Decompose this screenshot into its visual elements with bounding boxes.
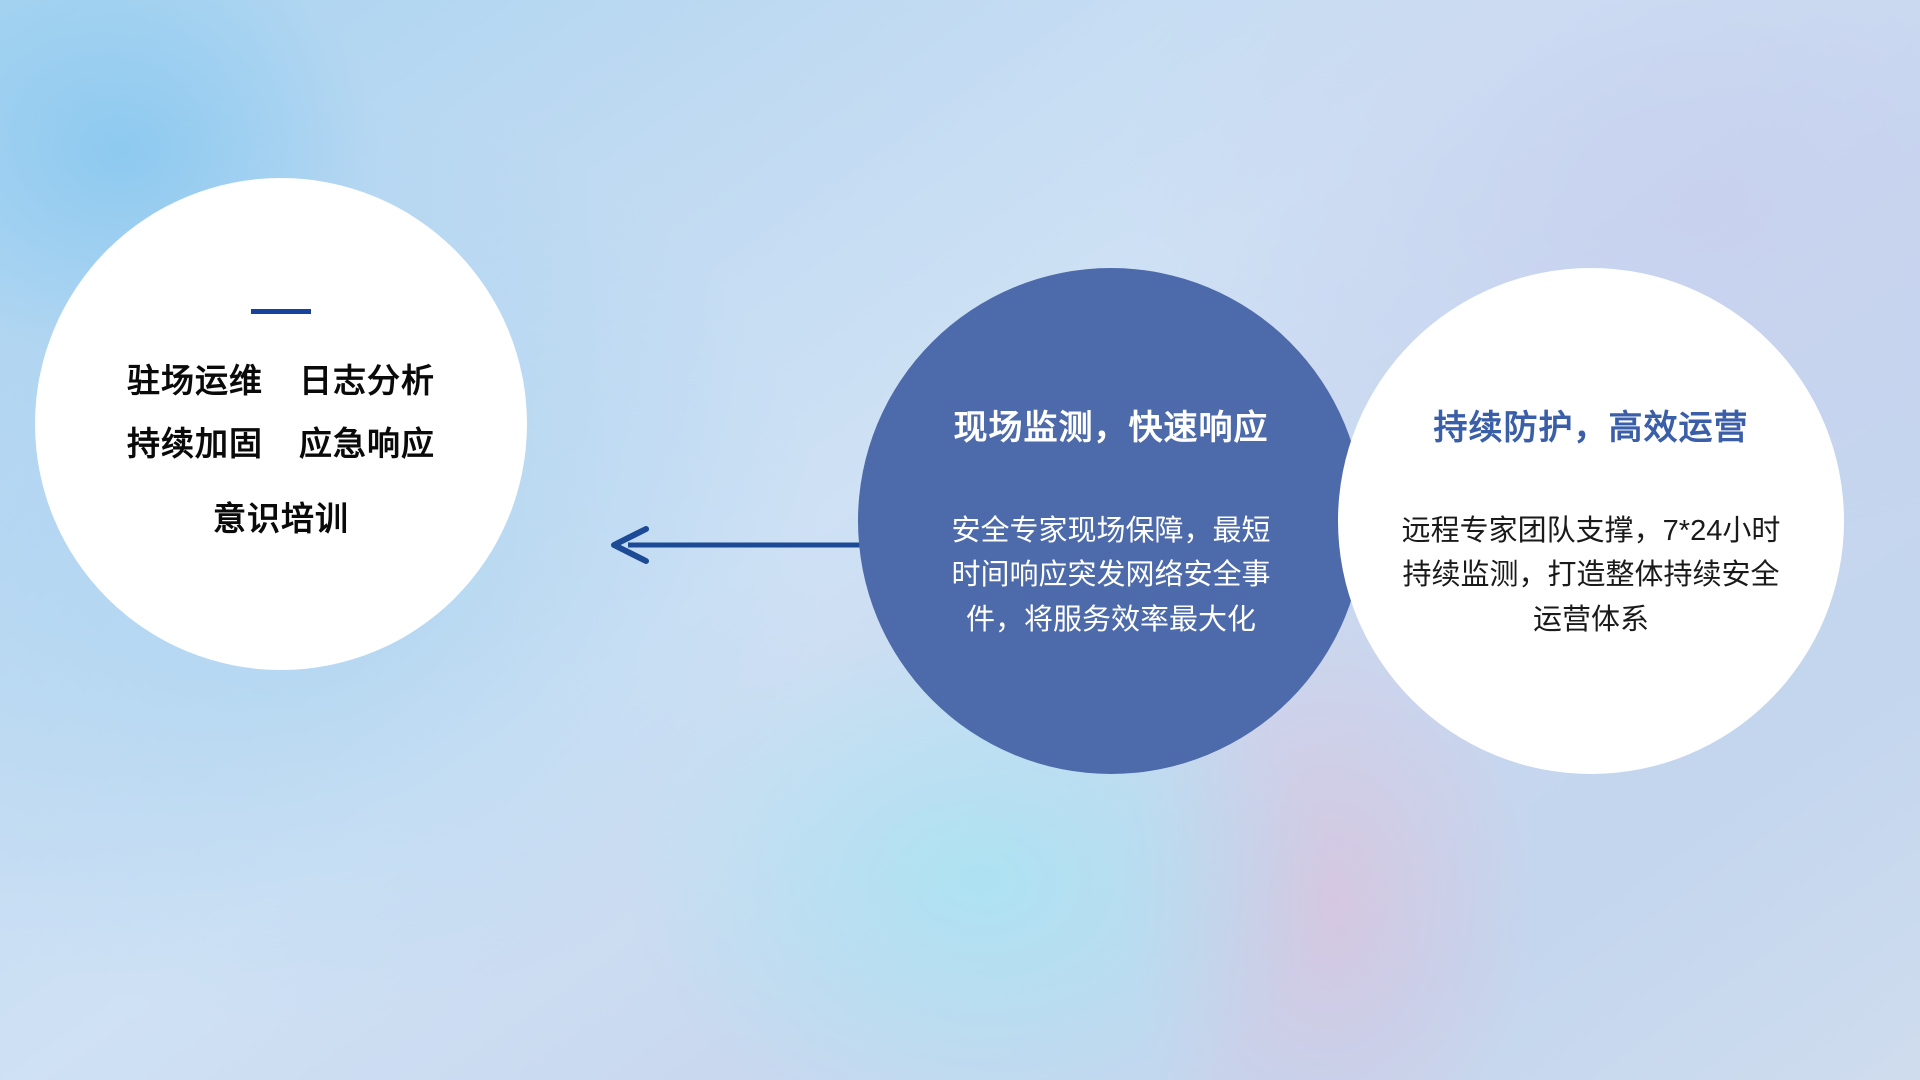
keyword-item: 意识培训 — [213, 498, 349, 539]
onsite-monitoring-circle: 现场监测，快速响应 安全专家现场保障，最短时间响应突发网络安全事件，将服务效率最… — [858, 268, 1364, 774]
continuous-protection-content: 持续防护，高效运营 远程专家团队支撑，7*24小时持续监测，打造整体持续安全运营… — [1381, 400, 1801, 641]
keyword-item: 持续加固 — [127, 423, 263, 464]
continuous-protection-heading: 持续防护，高效运营 — [1434, 400, 1749, 449]
keyword-row: 持续加固 应急响应 — [127, 423, 435, 464]
keyword-row: 驻场运维 日志分析 — [127, 360, 435, 401]
keyword-item: 应急响应 — [299, 423, 435, 464]
onsite-monitoring-content: 现场监测，快速响应 安全专家现场保障，最短时间响应突发网络安全事件，将服务效率最… — [915, 400, 1307, 641]
left-arrow — [600, 522, 900, 568]
continuous-protection-body: 远程专家团队支撑，7*24小时持续监测，打造整体持续安全运营体系 — [1391, 509, 1791, 641]
keyword-item: 驻场运维 — [127, 360, 263, 401]
keyword-item: 日志分析 — [299, 360, 435, 401]
continuous-protection-circle: 持续防护，高效运营 远程专家团队支撑，7*24小时持续监测，打造整体持续安全运营… — [1338, 268, 1844, 774]
divider-dash — [251, 309, 311, 314]
keyword-row: 意识培训 — [213, 498, 349, 539]
onsite-monitoring-body: 安全专家现场保障，最短时间响应突发网络安全事件，将服务效率最大化 — [946, 509, 1276, 641]
onsite-monitoring-heading: 现场监测，快速响应 — [954, 400, 1269, 449]
capabilities-circle: 驻场运维 日志分析 持续加固 应急响应 意识培训 — [35, 178, 527, 670]
